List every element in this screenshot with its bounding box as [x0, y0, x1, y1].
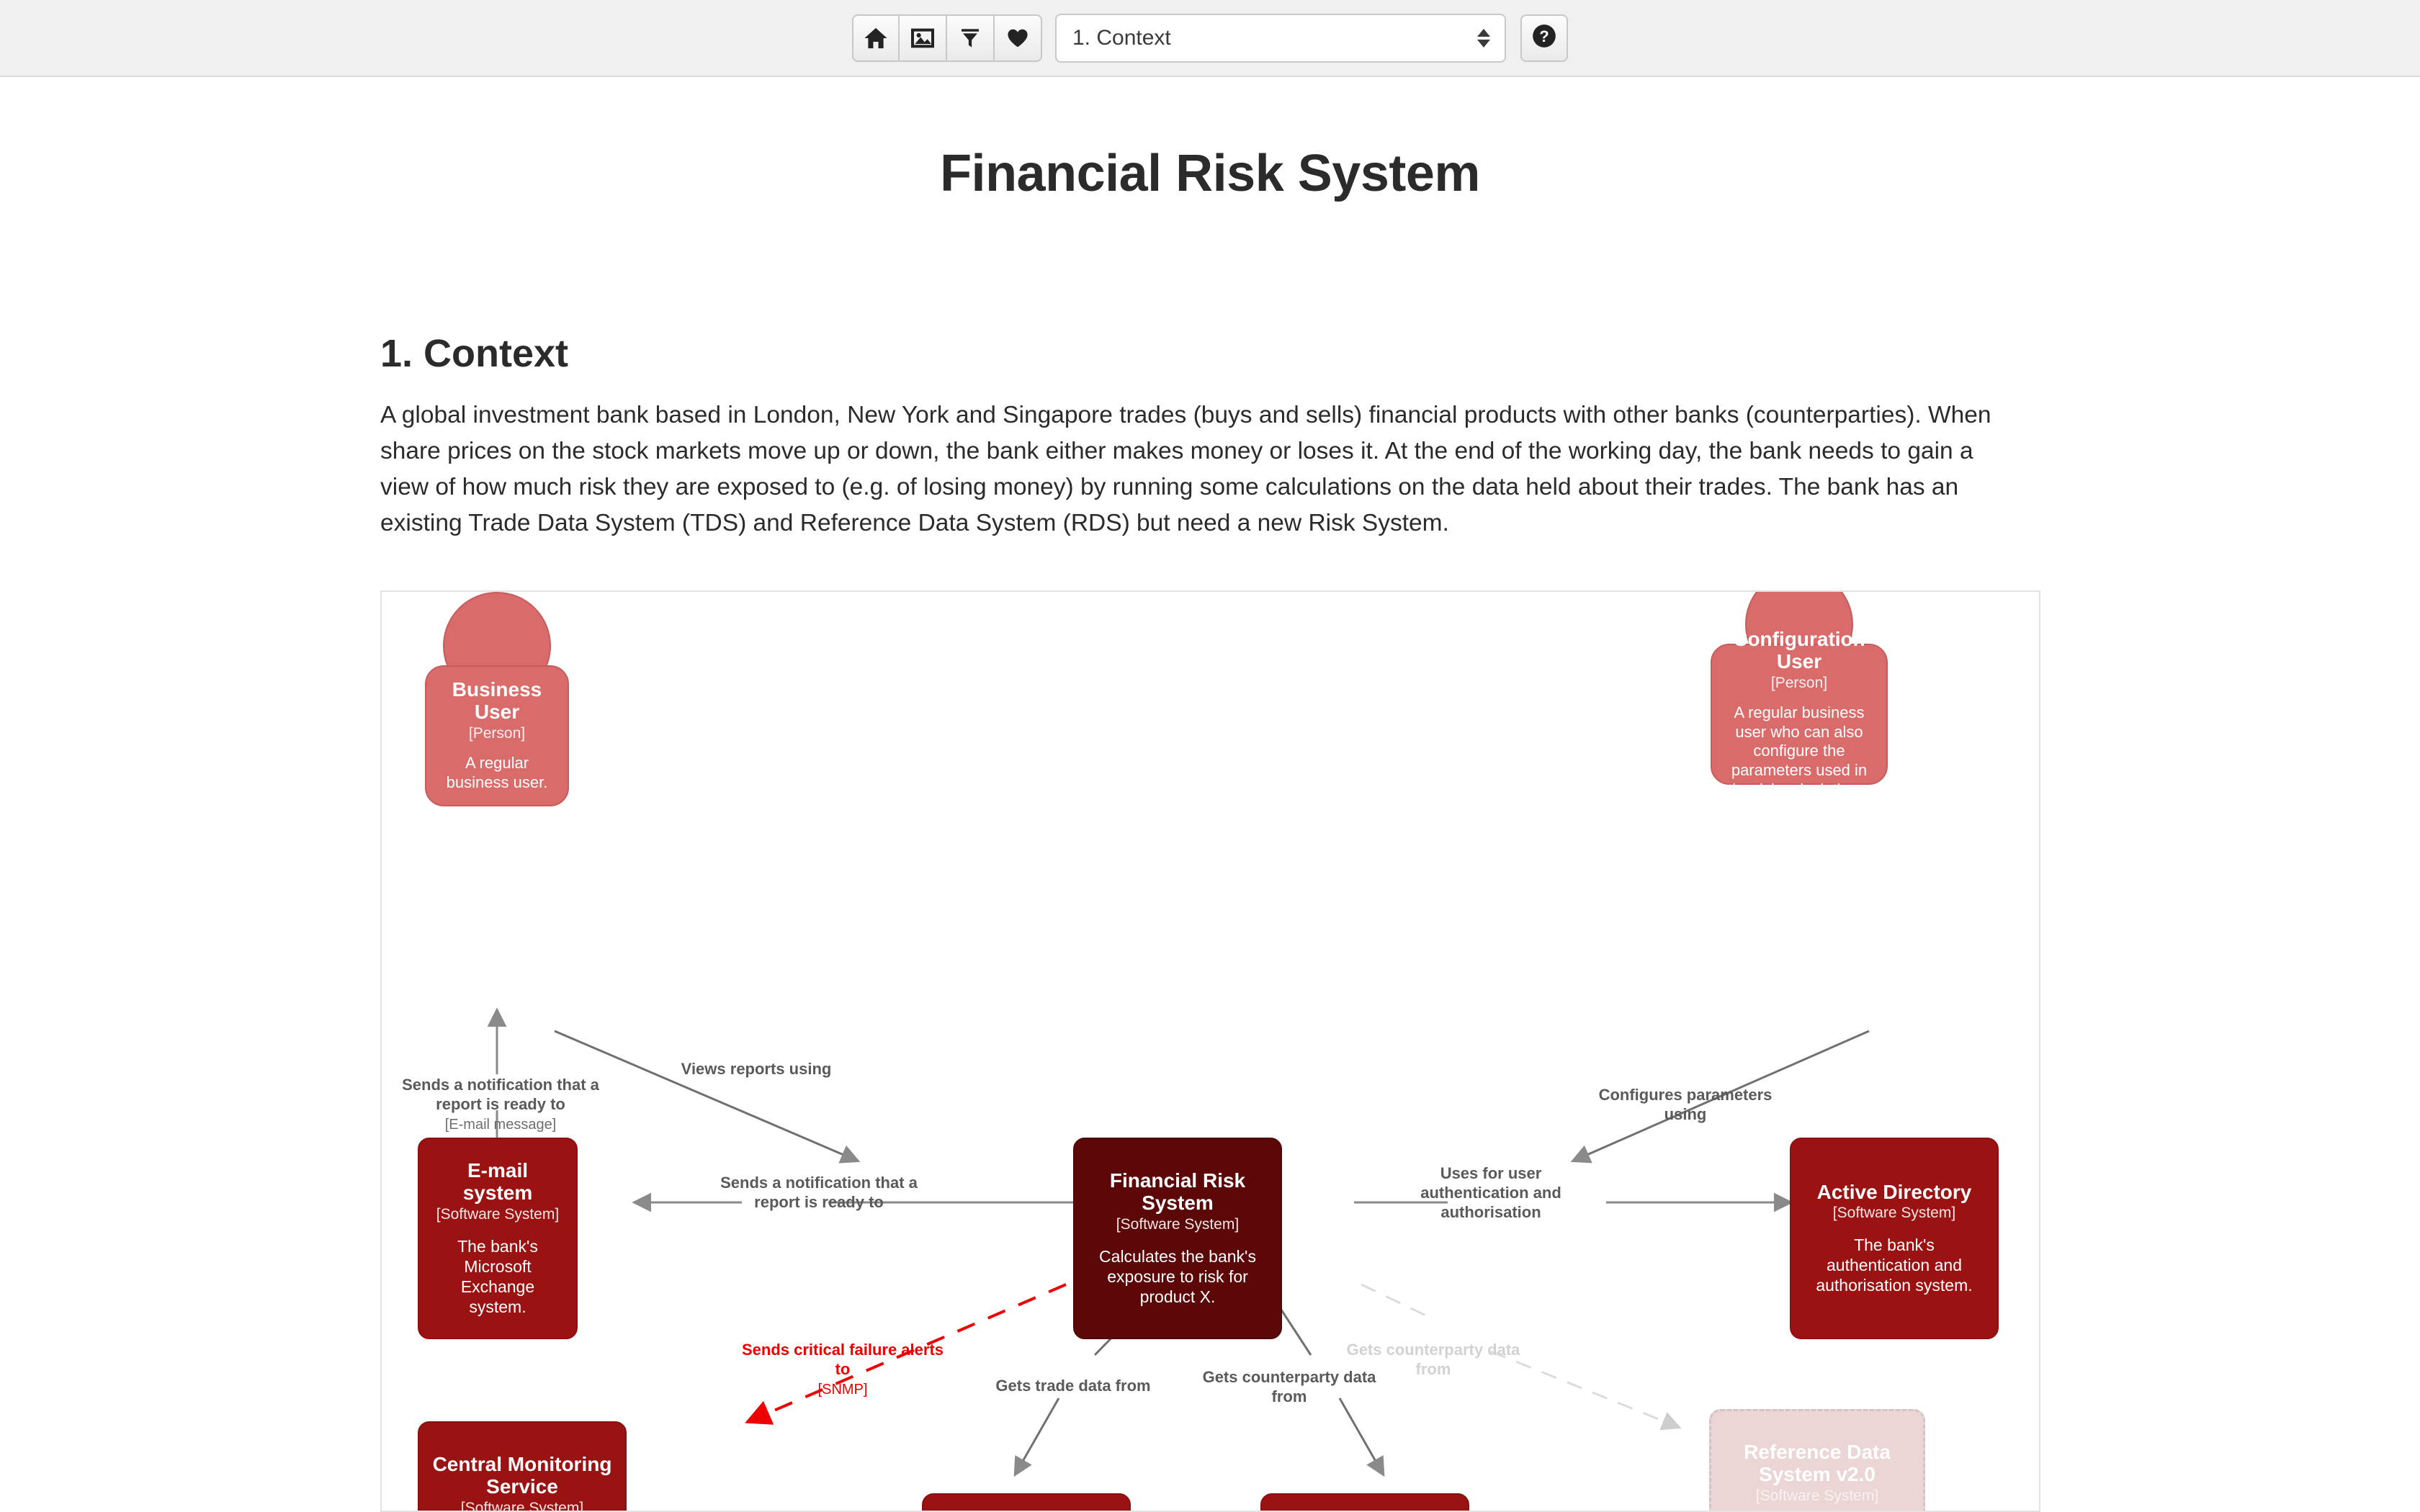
node-reference-data-system-v2[interactable]: Reference Data System v2.0 [Software Sys… [1709, 1409, 1925, 1512]
node-body: Business User [Person] A regular busines… [425, 665, 569, 806]
page-select[interactable]: 1. Context [1055, 14, 1506, 63]
node-type: [Software System] [1833, 1205, 1955, 1222]
node-name: Reference Data System v2.0 [1724, 1441, 1910, 1486]
node-type: [Software System] [1116, 1216, 1239, 1233]
node-central-monitoring-service[interactable]: Central Monitoring Service [Software Sys… [418, 1421, 627, 1512]
home-icon [864, 26, 888, 50]
node-description: Calculates the bank's exposure to risk f… [1088, 1246, 1268, 1307]
node-name: Business User [438, 679, 556, 724]
node-name: Configuration User [1724, 629, 1875, 673]
node-trade-data-system[interactable] [922, 1493, 1131, 1512]
node-type: [Software System] [461, 1500, 583, 1512]
filter-icon [959, 27, 982, 50]
node-name: E-mail system [432, 1160, 563, 1205]
edge-label-uses-for-authentication: Uses for user authentication and authori… [1390, 1164, 1592, 1222]
spinner-icon[interactable] [1477, 29, 1490, 48]
context-diagram[interactable]: Business User [Person] A regular busines… [380, 590, 2040, 1512]
help-button[interactable]: ? [1520, 14, 1568, 62]
home-button[interactable] [852, 14, 900, 62]
edge-label-risk-to-email: Sends a notification that a report is re… [707, 1174, 931, 1212]
node-body: Configuration User [Person] A regular bu… [1711, 644, 1888, 785]
node-description: A regular business user. [438, 754, 556, 793]
edge-label-views-reports-using: Views reports using [641, 1060, 871, 1079]
filter-button[interactable] [947, 14, 995, 62]
edge-label-email-to-business-user: Sends a notification that a report is re… [396, 1076, 605, 1133]
node-name: Financial Risk System [1088, 1170, 1268, 1215]
node-description: The bank's authentication and authorisat… [1804, 1235, 1984, 1295]
node-description: The bank's Microsoft Exchange system. [432, 1236, 563, 1317]
section-heading: 1. Context [380, 331, 568, 376]
edge-label-gets-trade-data: Gets trade data from [965, 1377, 1181, 1396]
node-email-system[interactable]: E-mail system [Software System] The bank… [418, 1138, 578, 1339]
favourite-button[interactable] [995, 14, 1042, 62]
page-select-value: 1. Context [1072, 26, 1171, 50]
section-body-text: A global investment bank based in London… [380, 397, 2026, 541]
node-type: [Person] [1771, 675, 1827, 692]
node-type: [Person] [469, 725, 525, 742]
node-name: Central Monitoring Service [432, 1454, 612, 1498]
node-active-directory[interactable]: Active Directory [Software System] The b… [1790, 1138, 1999, 1339]
node-financial-risk-system[interactable]: Financial Risk System [Software System] … [1073, 1138, 1282, 1339]
svg-text:?: ? [1539, 27, 1549, 45]
node-type: [Software System] [1756, 1488, 1878, 1505]
node-description: A regular business user who can also con… [1724, 703, 1875, 800]
edge-label-gets-counterparty-data-v2: Gets counterparty data from [1332, 1341, 1534, 1380]
image-button[interactable] [900, 14, 947, 62]
node-name: Active Directory [1817, 1182, 1972, 1204]
node-type: [Software System] [436, 1206, 559, 1223]
edge-label-configures-parameters: Configures parameters using [1577, 1086, 1793, 1125]
chevron-down-icon [1477, 40, 1490, 48]
toolbar-button-group [852, 14, 1042, 62]
node-reference-data-system[interactable] [1260, 1493, 1469, 1512]
edge-label-critical-failure-alerts: Sends critical failure alerts to [SNMP] [735, 1341, 951, 1398]
heart-icon [1006, 27, 1029, 50]
image-icon [911, 27, 934, 50]
toolbar: 1. Context ? [0, 0, 2420, 77]
page-title: Financial Risk System [0, 144, 2420, 203]
chevron-up-icon [1477, 29, 1490, 37]
help-icon: ? [1531, 22, 1558, 53]
